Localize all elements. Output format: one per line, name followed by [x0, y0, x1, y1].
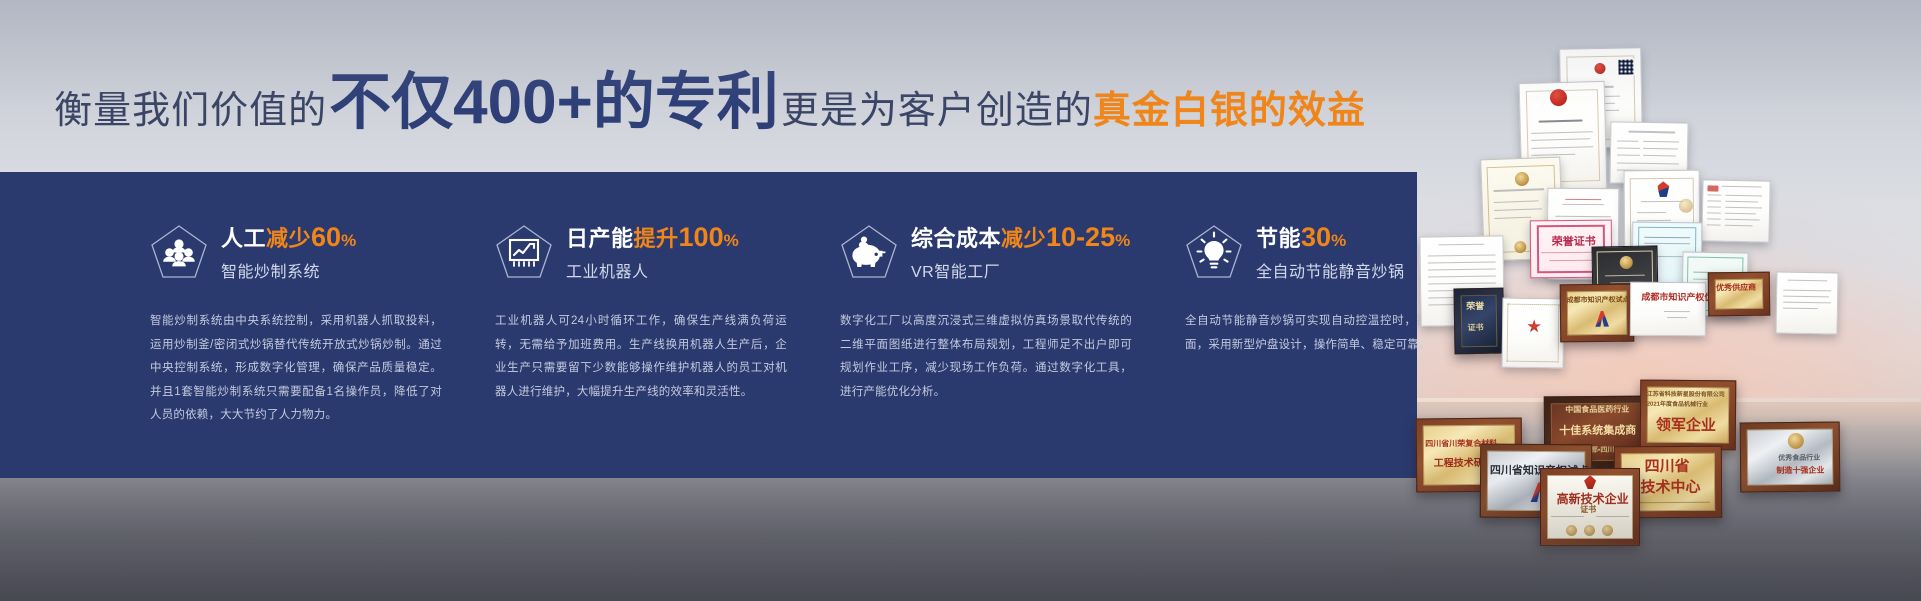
lightbulb-icon: [1185, 223, 1243, 281]
chart-easel-icon: [495, 223, 553, 281]
feature-header: 人工减少60% 智能炒制系统: [150, 220, 470, 284]
feature-body: 工业机器人可24小时循环工作，确保生产线满负荷运转，无需给予加班费用。生产线换用…: [495, 310, 787, 404]
title-highlight: 减少: [1001, 226, 1046, 251]
piggy-bank-icon: [840, 223, 898, 281]
title-number: 10-25: [1046, 222, 1115, 252]
title-number: 30: [1301, 222, 1331, 252]
title-number: 100: [679, 222, 724, 252]
feature-titles: 人工减少60% 智能炒制系统: [221, 222, 357, 281]
pile-reflection: [1392, 545, 1921, 601]
feature-title: 节能30%: [1256, 222, 1405, 252]
award-plaque: 高新技术企业 证书: [1540, 468, 1640, 546]
feature-subtitle: 工业机器人: [566, 258, 739, 282]
feature-header: 日产能提升100% 工业机器人: [495, 220, 815, 284]
title-number: 60: [311, 222, 341, 252]
people-group-icon: [150, 223, 208, 281]
feature-column-capacity: 日产能提升100% 工业机器人 工业机器人可24小时循环工作，确保生产线满负荷运…: [495, 172, 815, 478]
title-percent: %: [341, 231, 357, 250]
headline-middle: 更是为客户创造的: [781, 79, 1093, 134]
certificate-pile: 荣誉证书 荣誉 证书: [1392, 40, 1921, 545]
title-percent: %: [1115, 231, 1131, 250]
features-columns: 人工减少60% 智能炒制系统 智能炒制系统由中央系统控制，采用机器人抓取投料，运…: [0, 172, 1417, 478]
headline-prefix: 衡量我们价值的: [54, 79, 327, 134]
award-plaque: 成都市知识产权试点企业: [1560, 284, 1635, 343]
feature-body: 智能炒制系统由中央系统控制，采用机器人抓取投料，运用炒制釜/密闭式炒锅替代传统开…: [150, 310, 442, 428]
certificate-paper: [1775, 271, 1838, 334]
feature-titles: 节能30% 全自动节能静音炒锅: [1256, 222, 1405, 281]
title-prefix: 日产能: [566, 226, 634, 251]
headline: 衡量我们价值的 不仅400+的专利 更是为客户创造的 真金白银的效益: [0, 72, 1420, 142]
title-percent: %: [724, 231, 740, 250]
title-highlight: 提升: [634, 226, 679, 251]
title-highlight: 减少: [266, 226, 311, 251]
feature-titles: 综合成本减少10-25% VR智能工厂: [911, 222, 1131, 281]
headline-emphasis: 不仅400+的专利: [329, 72, 779, 134]
feature-column-cost: 综合成本减少10-25% VR智能工厂 数字化工厂以高度沉浸式三维虚拟仿真场景取…: [840, 172, 1160, 478]
certificate-paper: 成都市知识产权优势单位: [1630, 282, 1706, 337]
feature-subtitle: VR智能工厂: [911, 258, 1131, 282]
certificate-paper: [1701, 179, 1770, 242]
award-plaque: 荣誉 证书: [1453, 288, 1504, 355]
feature-body: 数字化工厂以高度沉浸式三维虚拟仿真场景取代传统的二维平面图纸进行整体布局规划，工…: [840, 310, 1132, 404]
features-panel: 人工减少60% 智能炒制系统 智能炒制系统由中央系统控制，采用机器人抓取投料，运…: [0, 172, 1417, 478]
title-prefix: 节能: [1256, 226, 1301, 251]
title-prefix: 综合成本: [911, 226, 1001, 251]
award-plaque: 江苏省科技新星股份有限公司 2021年度食品机械行业 领军企业: [1640, 380, 1737, 451]
award-plaque: 优秀供应商: [1708, 272, 1771, 317]
certificate-paper: [1502, 298, 1565, 369]
feature-title: 日产能提升100%: [566, 222, 739, 252]
feature-title: 综合成本减少10-25%: [911, 222, 1131, 252]
banner-stage: 衡量我们价值的 不仅400+的专利 更是为客户创造的 真金白银的效益: [0, 0, 1921, 601]
headline-highlight: 真金白银的效益: [1093, 79, 1366, 134]
feature-header: 综合成本减少10-25% VR智能工厂: [840, 220, 1160, 284]
feature-title: 人工减少60%: [221, 222, 357, 252]
feature-subtitle: 全自动节能静音炒锅: [1256, 258, 1405, 282]
award-plaque: 优秀食品行业 制造十强企业: [1740, 421, 1841, 492]
feature-titles: 日产能提升100% 工业机器人: [566, 222, 739, 281]
title-percent: %: [1331, 231, 1347, 250]
feature-subtitle: 智能炒制系统: [221, 258, 357, 282]
feature-column-labor: 人工减少60% 智能炒制系统 智能炒制系统由中央系统控制，采用机器人抓取投料，运…: [150, 172, 470, 478]
title-prefix: 人工: [221, 226, 266, 251]
